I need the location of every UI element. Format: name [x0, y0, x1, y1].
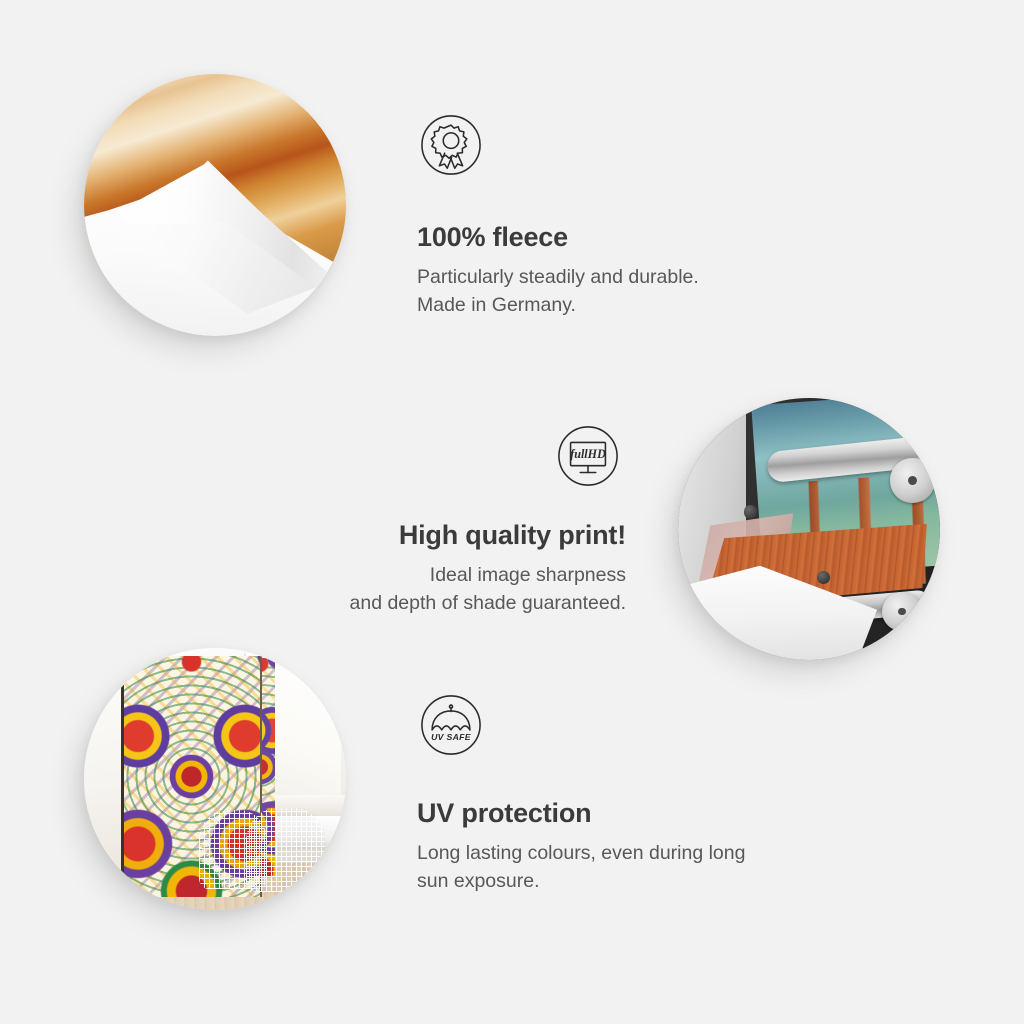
wallpaper-peel-photo-inner [84, 74, 346, 336]
feature-heading-uv: UV protection [417, 798, 745, 829]
feature-body-uv: Long lasting colours, even during long s… [417, 839, 745, 896]
feature-heading-fleece: 100% fleece [417, 222, 699, 253]
printing-press-photo [678, 398, 940, 660]
fullhd-monitor-icon: fullHD [557, 425, 619, 487]
feature-panel: 100% fleece Particularly steadily and du… [0, 0, 1024, 1024]
feature-body-print: Ideal image sharpness and depth of shade… [226, 561, 626, 618]
press-wheel-right-top [890, 458, 935, 503]
uv-safe-umbrella-icon: UV SAFE [420, 694, 482, 756]
feature-body-fleece: Particularly steadily and durable. Made … [417, 263, 699, 320]
feature-block-fleece: 100% fleece Particularly steadily and du… [417, 222, 699, 320]
printing-press-photo-inner [678, 398, 940, 660]
wallpaper-peel-photo [84, 74, 346, 336]
press-knob-center [817, 571, 830, 584]
feature-block-uv: UV protection Long lasting colours, even… [417, 798, 745, 896]
mandala-wallpaper-room-photo [84, 648, 346, 910]
award-rosette-icon [420, 114, 482, 176]
mandala-wallpaper-room-inner [84, 648, 346, 910]
feature-block-print: High quality print! Ideal image sharpnes… [226, 520, 626, 618]
press-wheel-right-bottom [882, 592, 921, 631]
uv-safe-label: UV SAFE [431, 732, 472, 742]
press-knob-left [744, 505, 757, 518]
room-wire-chair-right [246, 808, 325, 892]
feature-heading-print: High quality print! [226, 520, 626, 551]
fullhd-label: fullHD [570, 447, 606, 461]
